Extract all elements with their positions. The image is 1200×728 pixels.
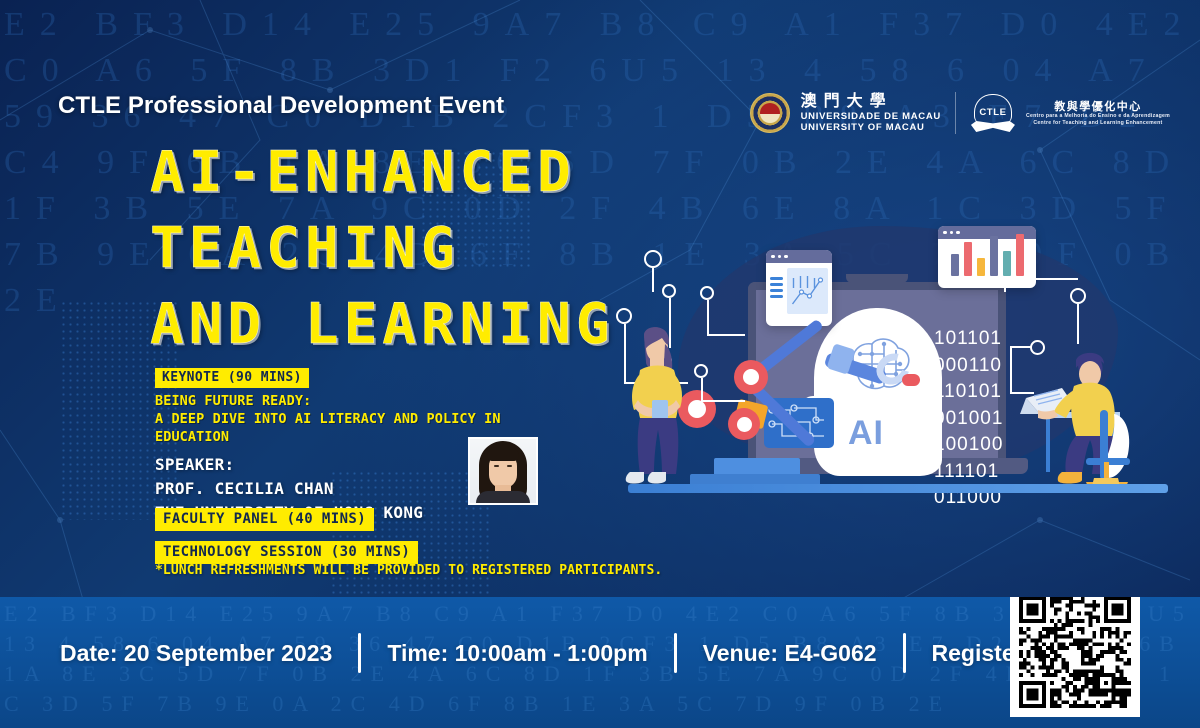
chart-bar [951, 254, 959, 276]
binary-row: 110101 [934, 379, 1003, 406]
ctle-mark-label: CTLE [979, 107, 1006, 118]
network-wire [1004, 278, 1006, 292]
logo-group: 澳門大學 UNIVERSIDADE DE MACAU UNIVERSITY OF… [750, 92, 1170, 134]
ctle-logo-chinese: 教與學優化中心 [1026, 100, 1170, 114]
session-badges: FACULTY PANEL (40 MINS) TECHNOLOGY SESSI… [155, 508, 418, 564]
refreshments-footnote: *LUNCH REFRESHMENTS WILL BE PROVIDED TO … [155, 563, 662, 578]
network-node [1070, 288, 1086, 304]
analytics-window [766, 250, 832, 326]
university-of-macau-logo: 澳門大學 UNIVERSIDADE DE MACAU UNIVERSITY OF… [750, 92, 941, 133]
ctle-mark-icon: CTLE [970, 93, 1016, 133]
registration-qr-code[interactable] [1010, 597, 1140, 717]
keynote-badge: KEYNOTE (90 MINS) [155, 368, 309, 388]
um-logo-chinese: 澳門大學 [801, 92, 941, 111]
bar-chart [938, 239, 1036, 280]
network-wire [707, 300, 709, 336]
network-wire [652, 268, 654, 292]
binary-row: 001001 [934, 406, 1003, 433]
chart-bar [1003, 251, 1011, 276]
ai-illustration: AI 101101 000110 110101 001001 100100 11… [618, 222, 1184, 512]
network-wire [1077, 304, 1079, 344]
faculty-panel-badge: FACULTY PANEL (40 MINS) [155, 508, 374, 531]
binary-row: 100100 [934, 432, 1003, 459]
network-node [694, 364, 708, 378]
binary-row: 000110 [934, 353, 1003, 380]
um-crest-icon [750, 93, 790, 133]
network-wire [1010, 346, 1012, 392]
technology-session-badge: TECHNOLOGY SESSION (30 MINS) [155, 541, 418, 564]
keynote-title-line-1: BEING FUTURE READY: [155, 392, 575, 410]
robot-gripper-tip [902, 374, 920, 386]
event-poster: E2 BF3 D14 E25 9A7 B8 C9 A1 F37 D0 4E2 C… [0, 0, 1200, 728]
ctle-logo: CTLE 教與學優化中心 Centro para a Melhoria do E… [970, 93, 1170, 133]
floor-line [628, 484, 1168, 493]
chart-bar [1016, 234, 1024, 276]
speaker-photo [468, 437, 538, 505]
ai-head-icon: AI [814, 308, 942, 476]
network-node [700, 286, 714, 300]
page-title: AI-ENHANCED TEACHING AND LEARNING [150, 135, 615, 363]
binary-row: 101101 [934, 326, 1003, 353]
footer-date: Date: 20 September 2023 [0, 640, 358, 667]
network-wire [701, 400, 745, 402]
footer-bar: E2 BF3 D14 E25 9A7 B8 C9 A1 F37 D0 4E2 C… [0, 597, 1200, 728]
robot-joint-top [734, 360, 768, 394]
laptop-notch [846, 274, 908, 283]
network-wire [1010, 346, 1032, 348]
person-at-desk-right [1016, 350, 1156, 490]
um-logo-english: UNIVERSITY OF MACAU [801, 122, 941, 133]
title-line-3: AND LEARNING [150, 287, 615, 363]
network-node [662, 284, 676, 298]
page-kicker: CTLE Professional Development Event [58, 92, 504, 120]
chart-bar [977, 258, 985, 276]
title-line-2: TEACHING [150, 211, 615, 287]
chart-bar [990, 236, 998, 276]
network-wire [1004, 278, 1078, 280]
ai-head-label: AI [848, 414, 884, 453]
network-node [644, 250, 662, 268]
um-logo-portuguese: UNIVERSIDADE DE MACAU [801, 111, 941, 122]
network-wire [701, 378, 703, 400]
person-standing-left [624, 322, 694, 490]
robot-joint-base [728, 408, 760, 440]
ctle-logo-english: Centre for Teaching and Learning Enhance… [1026, 120, 1170, 127]
logo-divider [955, 92, 956, 134]
chart-bar [964, 242, 972, 276]
network-wire [707, 334, 745, 336]
ctle-logo-portuguese: Centro para a Melhoria do Ensino e da Ap… [1026, 113, 1170, 120]
title-line-1: AI-ENHANCED [150, 135, 615, 211]
footer-venue: Venue: E4-G062 [677, 640, 903, 667]
binary-row: 111101 [934, 459, 1003, 486]
footer-time: Time: 10:00am - 1:00pm [361, 640, 673, 667]
